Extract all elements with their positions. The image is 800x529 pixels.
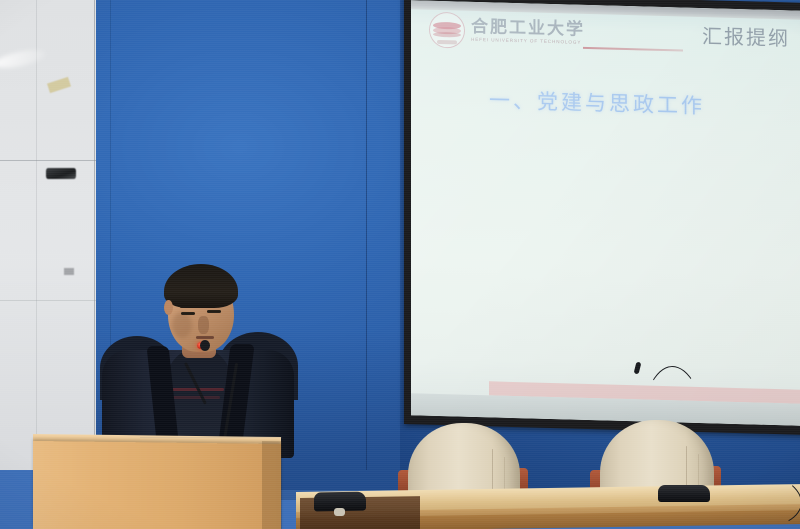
presenter-sweater-stripe-2 <box>172 396 220 399</box>
projection-screen-surface: 合肥工业大学 HEFEI UNIVERSITY OF TECHNOLOGY 汇报… <box>411 0 800 426</box>
university-name-cn: 合肥工业大学 <box>471 19 585 39</box>
wall-small-mark <box>64 268 74 275</box>
conference-photo: 合肥工业大学 HEFEI UNIVERSITY OF TECHNOLOGY 汇报… <box>0 0 800 529</box>
university-logo: 合肥工业大学 HEFEI UNIVERSITY OF TECHNOLOGY <box>429 12 585 52</box>
wall-handle-recess <box>46 168 76 179</box>
slide-header-rule <box>583 47 683 52</box>
podium-right-shadow <box>262 441 282 529</box>
wall-panel-seam-2 <box>36 0 37 470</box>
presentation-slide: 合肥工业大学 HEFEI UNIVERSITY OF TECHNOLOGY 汇报… <box>411 0 800 426</box>
presenter-at-podium <box>96 258 306 448</box>
podium-seam <box>140 437 282 438</box>
university-crest-icon <box>429 12 465 49</box>
podium-side-microphone-connector <box>334 508 345 516</box>
left-wall-panel-inner <box>0 0 96 470</box>
podium-microphone-capsule <box>200 340 210 351</box>
wooden-podium <box>33 441 281 529</box>
slide-heading: 一、党建与思政工作 <box>489 84 705 120</box>
presenter-eye-left <box>181 312 195 315</box>
presenter-mouth <box>196 336 214 339</box>
presenter-nose <box>198 316 209 334</box>
slide-header-title: 汇报提纲 <box>702 20 790 51</box>
presenter-ear-left <box>164 300 173 315</box>
wall-panel-seam-1 <box>94 0 95 470</box>
projection-screen: 合肥工业大学 HEFEI UNIVERSITY OF TECHNOLOGY 汇报… <box>404 0 800 435</box>
slide-header: 合肥工业大学 HEFEI UNIVERSITY OF TECHNOLOGY 汇报… <box>411 9 800 64</box>
presenter-hair <box>164 264 238 308</box>
presenter-eye-right <box>207 310 221 313</box>
university-name-en: HEFEI UNIVERSITY OF TECHNOLOGY <box>471 38 585 46</box>
university-logo-text: 合肥工业大学 HEFEI UNIVERSITY OF TECHNOLOGY <box>471 19 585 46</box>
